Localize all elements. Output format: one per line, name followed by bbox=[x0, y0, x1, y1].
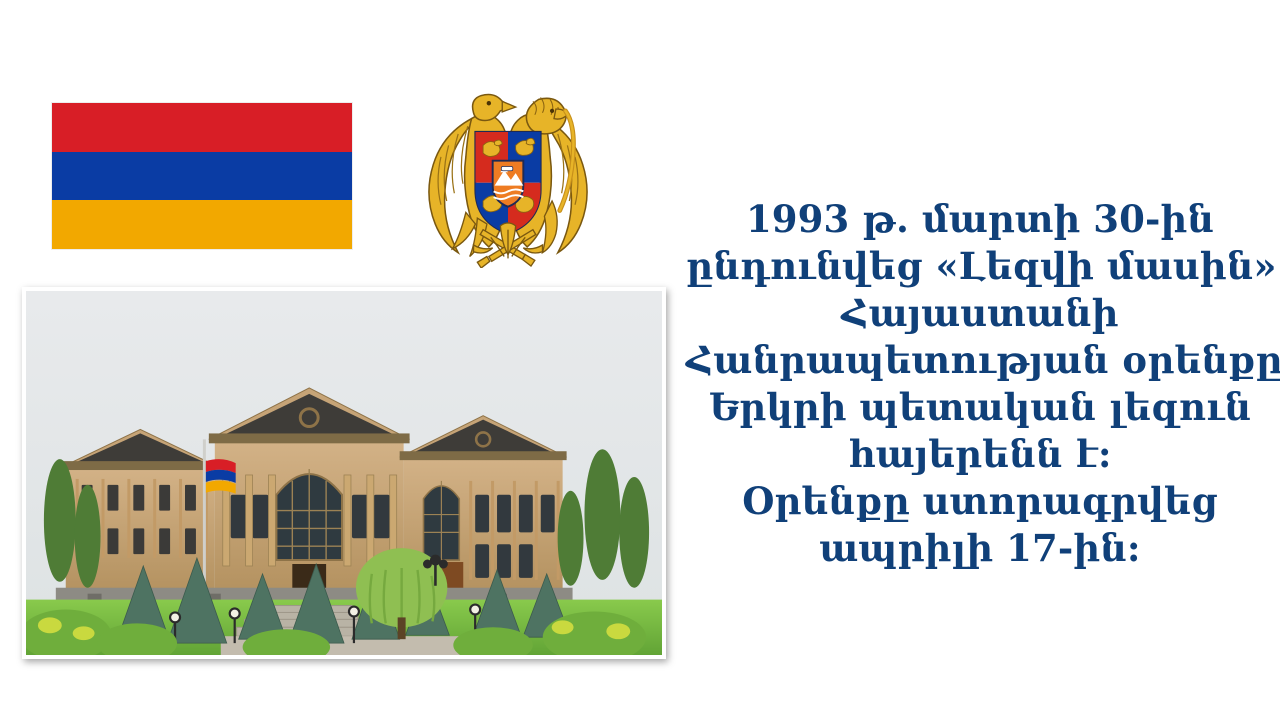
flag-stripe-orange bbox=[52, 200, 352, 249]
text-line-5: Երկրի պետական լեզուն bbox=[686, 384, 1274, 431]
armenia-coat-of-arms-icon bbox=[412, 86, 604, 268]
text-line-7: Օրենքը ստորագրվեց bbox=[686, 478, 1274, 525]
flag-stripe-blue bbox=[52, 152, 352, 201]
text-line-8: ապրիլի 17-ին: bbox=[686, 525, 1274, 572]
armenia-flag bbox=[52, 103, 352, 249]
text-line-6: հայերենն է: bbox=[686, 431, 1274, 478]
text-line-4: Հանրապետության օրենքը: bbox=[686, 337, 1274, 384]
flag-stripe-red bbox=[52, 103, 352, 152]
text-line-2: ընդունվեց «Լեզվի մասին» bbox=[686, 243, 1274, 290]
text-line-1: 1993 թ. մարտի 30-ին bbox=[686, 196, 1274, 243]
slide-root: 1993 թ. մարտի 30-ին ընդունվեց «Լեզվի մաս… bbox=[0, 0, 1280, 720]
slide-text-block: 1993 թ. մարտի 30-ին ընդունվեց «Լեզվի մաս… bbox=[686, 196, 1274, 572]
text-line-3: Հայաստանի bbox=[686, 290, 1274, 337]
parliament-building-photo bbox=[22, 287, 666, 659]
